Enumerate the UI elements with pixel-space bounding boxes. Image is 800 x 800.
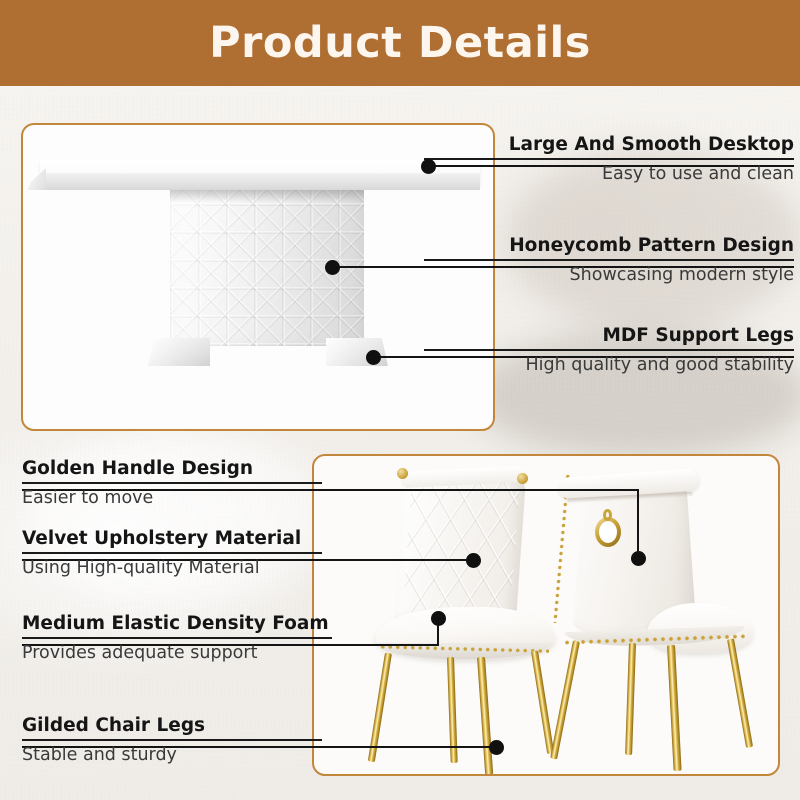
callout-title: Velvet Upholstery Material bbox=[22, 528, 322, 549]
callout-subtitle: Showcasing modern style bbox=[424, 265, 794, 286]
callout-golden-handle-design: Golden Handle Design Easier to move bbox=[22, 458, 322, 509]
callout-subtitle: Easier to move bbox=[22, 488, 322, 509]
page-title: Product Details bbox=[209, 18, 591, 68]
callout-title: Large And Smooth Desktop bbox=[424, 134, 794, 155]
callout-underline bbox=[22, 739, 322, 741]
callout-medium-elastic-density-foam: Medium Elastic Density Foam Provides ade… bbox=[22, 613, 332, 664]
callout-gilded-chair-legs: Gilded Chair Legs Stable and sturdy bbox=[22, 715, 322, 766]
header-banner: Product Details bbox=[0, 0, 800, 86]
callout-dot-golden-handle bbox=[631, 551, 646, 566]
callout-title: Golden Handle Design bbox=[22, 458, 322, 479]
product-details-infographic: Product Details bbox=[0, 0, 800, 800]
callout-title: Medium Elastic Density Foam bbox=[22, 613, 332, 634]
callout-velvet-upholstery-material: Velvet Upholstery Material Using High-qu… bbox=[22, 528, 322, 579]
callout-title: Honeycomb Pattern Design bbox=[424, 235, 794, 256]
callout-subtitle: High quality and good stability bbox=[424, 355, 794, 376]
callout-underline bbox=[22, 637, 332, 639]
callout-underline bbox=[424, 349, 794, 351]
callout-dot-honeycomb bbox=[325, 260, 340, 275]
callout-dot-velvet bbox=[466, 553, 481, 568]
callout-honeycomb-pattern-design: Honeycomb Pattern Design Showcasing mode… bbox=[424, 235, 794, 286]
callout-dot-mdf-legs bbox=[366, 350, 381, 365]
callout-title: MDF Support Legs bbox=[424, 325, 794, 346]
callout-underline bbox=[22, 482, 322, 484]
callout-dot-gilded-legs bbox=[489, 740, 504, 755]
callout-title: Gilded Chair Legs bbox=[22, 715, 322, 736]
callout-dot-foam bbox=[431, 611, 446, 626]
callout-large-smooth-desktop: Large And Smooth Desktop Easy to use and… bbox=[424, 134, 794, 185]
callout-dot-desktop bbox=[421, 159, 436, 174]
callout-subtitle: Using High-quality Material bbox=[22, 558, 322, 579]
connector-line-golden-handle-drop bbox=[637, 489, 639, 555]
callout-subtitle: Provides adequate support bbox=[22, 643, 332, 664]
callout-underline bbox=[424, 158, 794, 160]
callout-underline bbox=[424, 259, 794, 261]
chairs-photo-panel-border bbox=[312, 454, 780, 776]
callout-subtitle: Easy to use and clean bbox=[424, 164, 794, 185]
callout-subtitle: Stable and sturdy bbox=[22, 745, 322, 766]
callout-mdf-support-legs: MDF Support Legs High quality and good s… bbox=[424, 325, 794, 376]
callout-underline bbox=[22, 552, 322, 554]
